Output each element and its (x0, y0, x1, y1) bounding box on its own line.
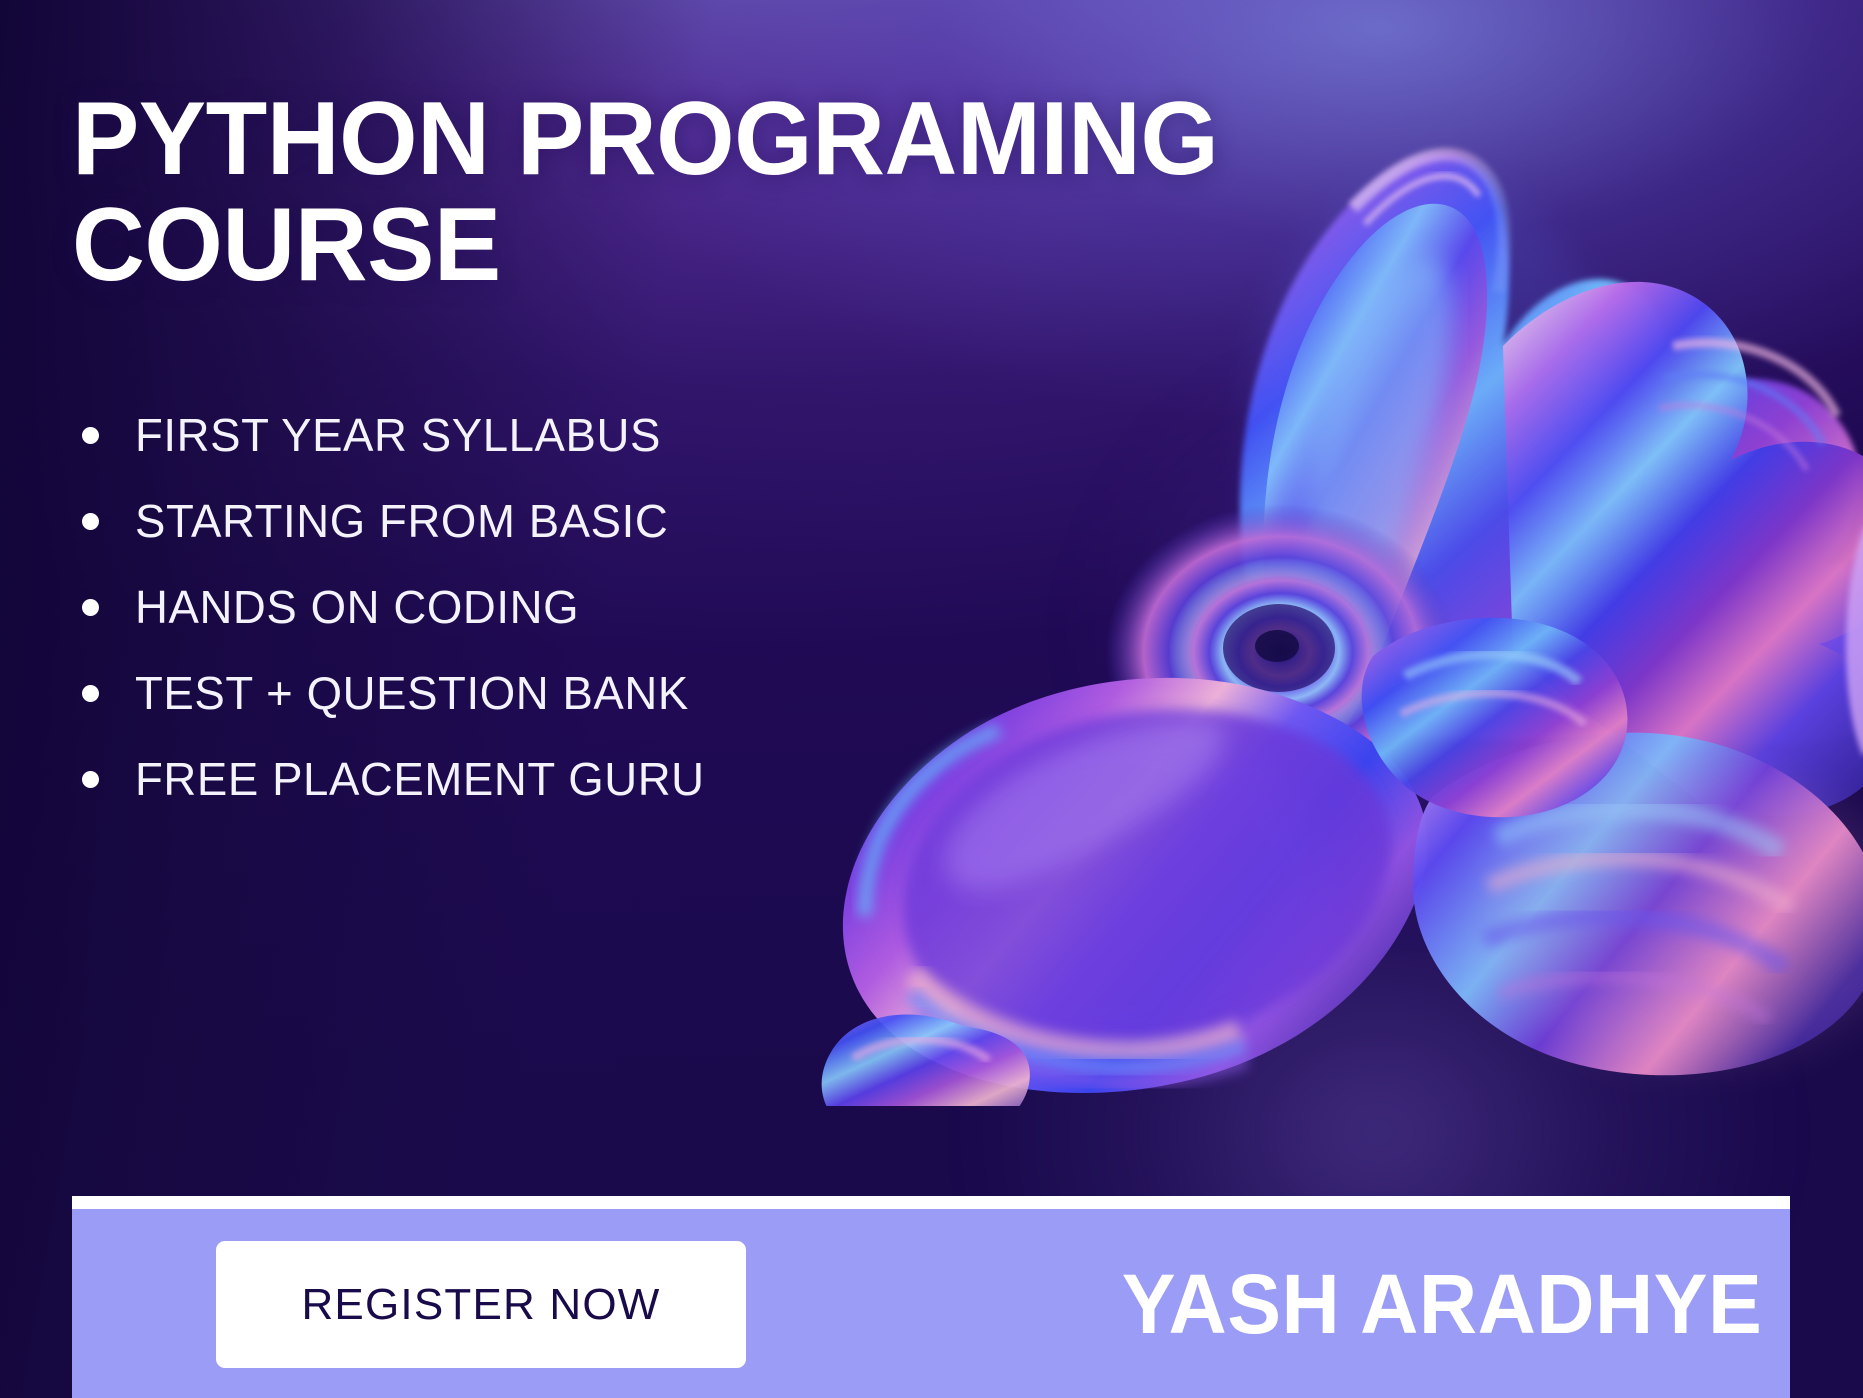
footer-band: REGISTER NOW YASH ARADHYE (72, 1196, 1790, 1398)
promo-poster: PYTHON PROGRAMING COURSE FIRST YEAR SYLL… (0, 0, 1863, 1398)
footer-divider (72, 1196, 1790, 1209)
register-now-label: REGISTER NOW (301, 1280, 660, 1330)
list-item-label: FIRST YEAR SYLLABUS (135, 408, 661, 462)
list-item: HANDS ON CODING (72, 564, 952, 650)
list-item-label: STARTING FROM BASIC (135, 494, 668, 548)
list-item: FIRST YEAR SYLLABUS (72, 392, 952, 478)
bullet-dot-icon (82, 771, 99, 788)
bullet-dot-icon (82, 599, 99, 616)
list-item: TEST + QUESTION BANK (72, 650, 952, 736)
presenter-name: YASH ARADHYE (1121, 1234, 1762, 1374)
list-item-label: HANDS ON CODING (135, 580, 579, 634)
page-title: PYTHON PROGRAMING COURSE (72, 86, 1314, 298)
register-now-button[interactable]: REGISTER NOW (216, 1241, 746, 1368)
headline-line-2: COURSE (72, 192, 1314, 298)
bullet-dot-icon (82, 513, 99, 530)
bullet-dot-icon (82, 685, 99, 702)
bullet-dot-icon (82, 427, 99, 444)
list-item: FREE PLACEMENT GURU (72, 736, 952, 822)
list-item-label: FREE PLACEMENT GURU (135, 752, 705, 806)
headline-line-1: PYTHON PROGRAMING (72, 86, 1314, 192)
feature-list: FIRST YEAR SYLLABUS STARTING FROM BASIC … (72, 392, 952, 822)
list-item: STARTING FROM BASIC (72, 478, 952, 564)
list-item-label: TEST + QUESTION BANK (135, 666, 689, 720)
